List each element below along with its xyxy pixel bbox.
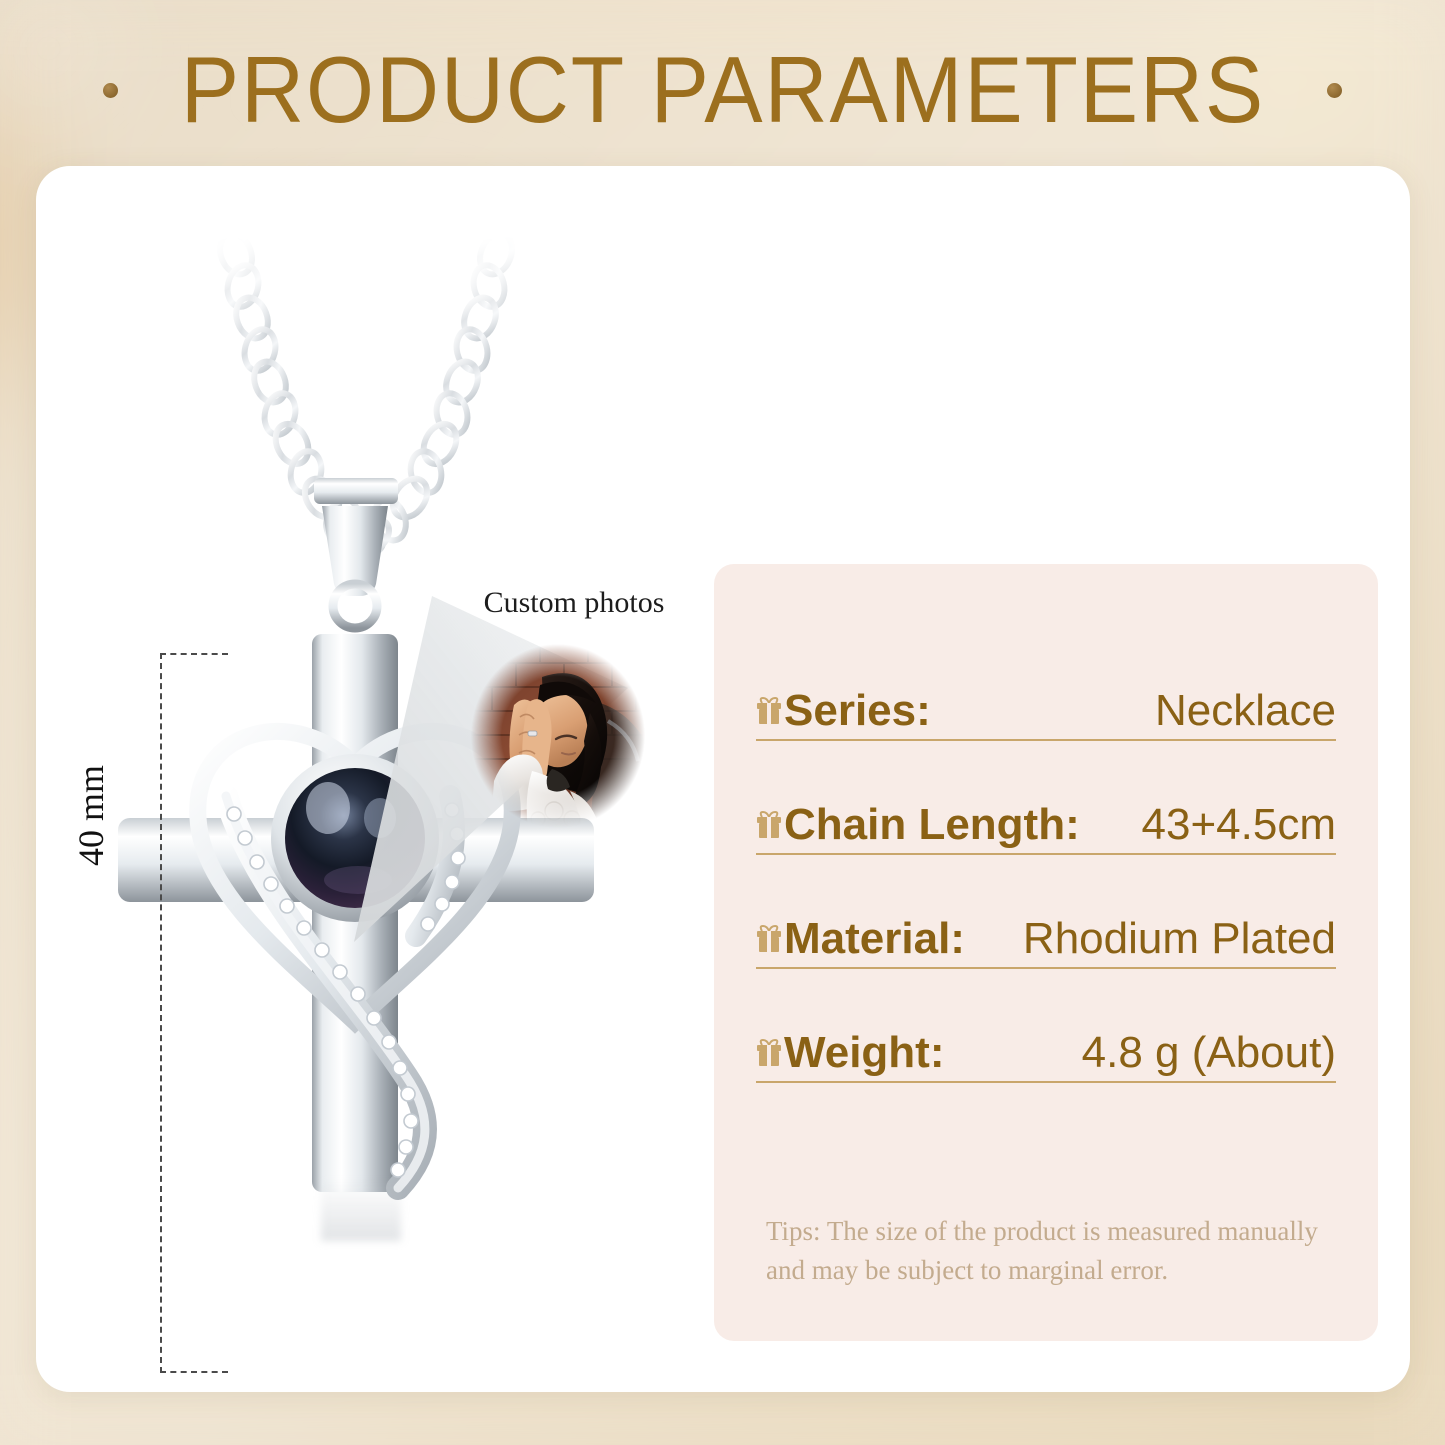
pendant-reflection xyxy=(321,1179,401,1241)
praying-woman-photo xyxy=(470,643,646,829)
title-dot-right-icon xyxy=(1327,83,1342,98)
custom-photos-label: Custom photos xyxy=(454,586,694,620)
parameter-label: Chain Length: xyxy=(784,803,1080,847)
parameter-divider xyxy=(756,853,1336,855)
custom-photo-bubble xyxy=(470,643,646,829)
page-title-bar: PRODUCT PARAMETERS xyxy=(0,36,1445,144)
parameter-label: Series: xyxy=(784,689,931,733)
title-dot-left-icon xyxy=(103,83,118,98)
gift-icon xyxy=(756,811,782,839)
gift-icon xyxy=(756,697,782,725)
height-dimension-bracket xyxy=(160,653,228,1373)
tips-text: Tips: The size of the product is measure… xyxy=(766,1212,1336,1290)
parameter-label: Weight: xyxy=(784,1031,945,1075)
parameter-divider xyxy=(756,739,1336,741)
parameter-rows: Series: Necklace xyxy=(756,689,1336,1083)
parameter-row-material: Material: Rhodium Plated xyxy=(756,917,1336,969)
page-title: PRODUCT PARAMETERS xyxy=(180,43,1264,137)
parameter-row-series: Series: Necklace xyxy=(756,689,1336,741)
height-dimension-label: 40 mm xyxy=(70,765,112,866)
gift-icon xyxy=(756,925,782,953)
parameter-value: Rhodium Plated xyxy=(1023,917,1336,961)
gift-icon xyxy=(756,1039,782,1067)
parameters-panel: Series: Necklace xyxy=(714,564,1378,1341)
parameter-value: 43+4.5cm xyxy=(1142,803,1336,847)
product-image-area: Custom photos 40 mm 22.5 mm xyxy=(36,166,696,1392)
parameter-divider xyxy=(756,967,1336,969)
parameter-row-chain-length: Chain Length: 43+4.5cm xyxy=(756,803,1336,855)
parameter-row-weight: Weight: 4.8 g (About) xyxy=(756,1031,1336,1083)
parameter-value: Necklace xyxy=(1155,689,1336,733)
page-root: PRODUCT PARAMETERS xyxy=(0,0,1445,1445)
parameter-divider xyxy=(756,1081,1336,1083)
parameter-value: 4.8 g (About) xyxy=(1082,1031,1336,1075)
parameter-label: Material: xyxy=(784,917,965,961)
content-card: Custom photos 40 mm 22.5 mm xyxy=(36,166,1410,1392)
